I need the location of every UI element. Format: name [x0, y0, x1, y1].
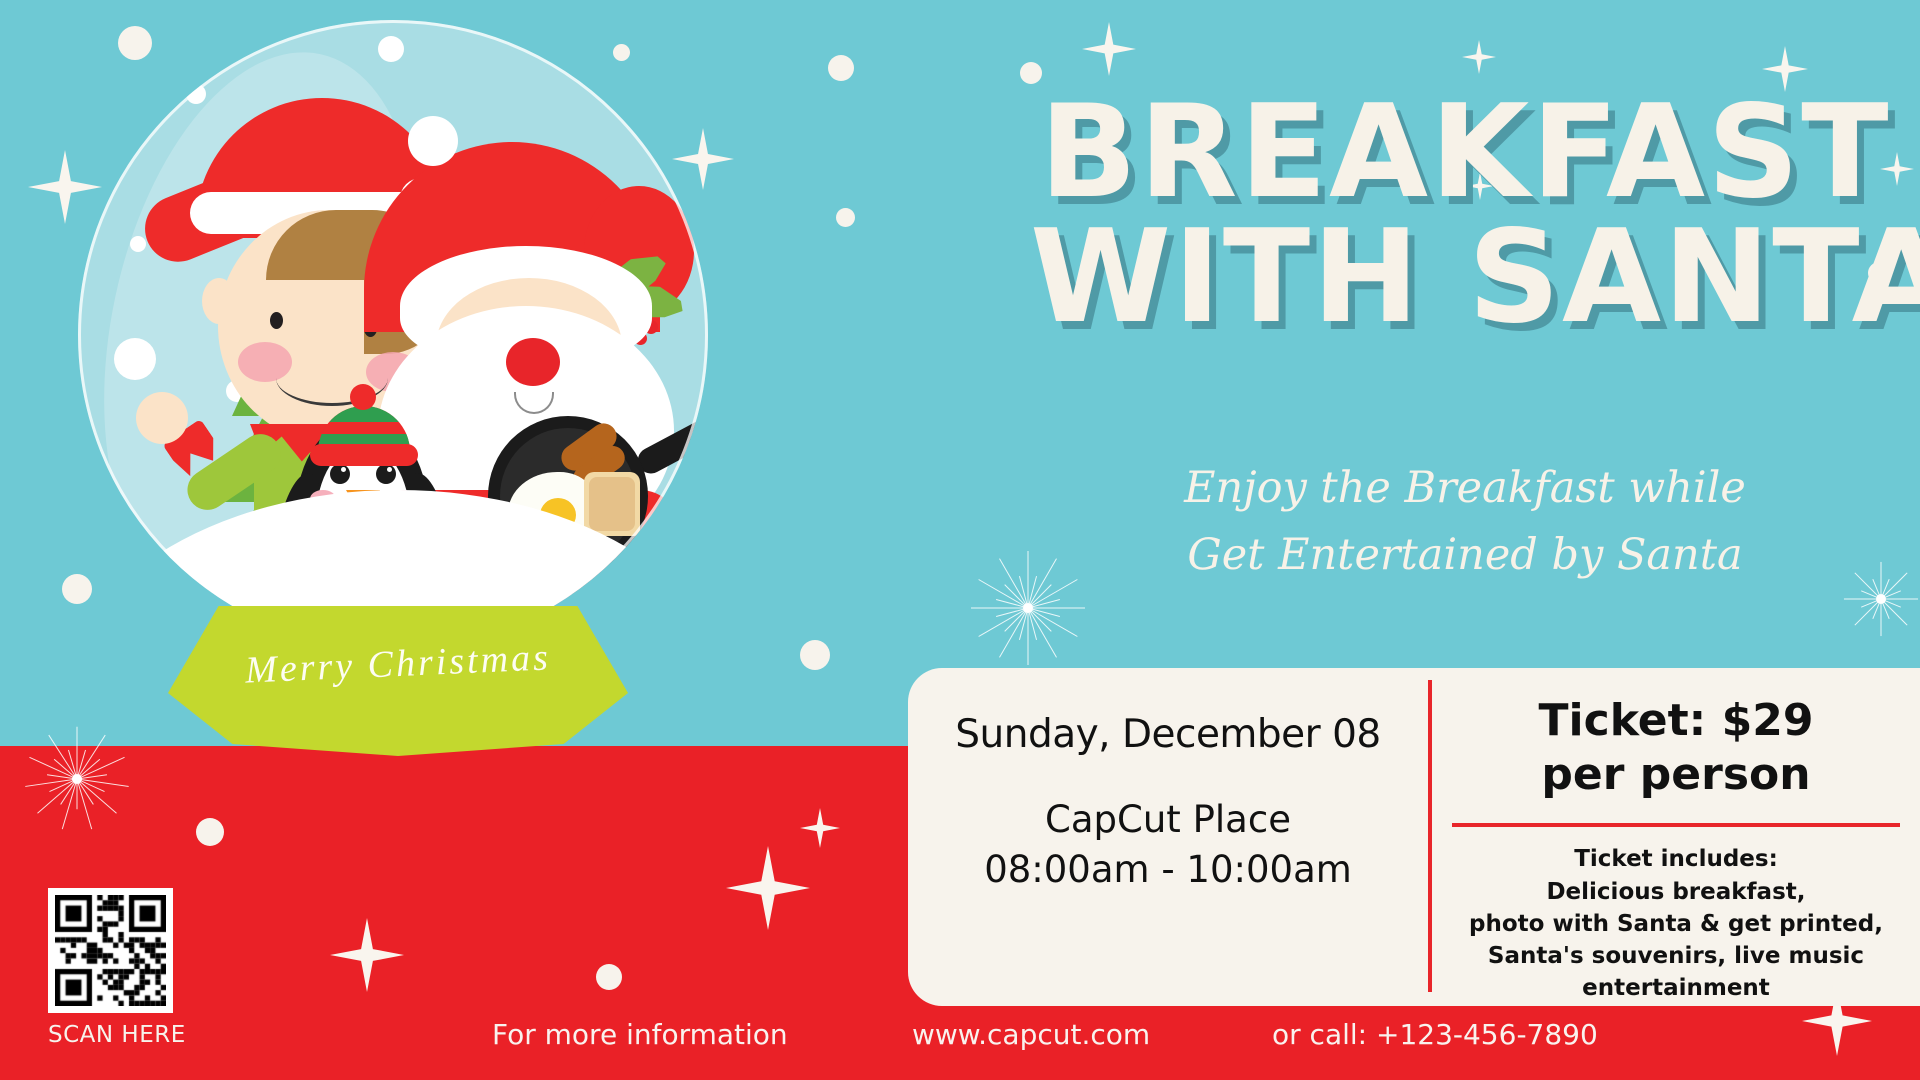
- includes-line-2: photo with Santa & get printed,: [1469, 908, 1883, 940]
- snow-dot: [196, 818, 224, 846]
- event-venue: CapCut Place 08:00am - 10:00am: [984, 795, 1352, 895]
- snow-dot: [828, 55, 854, 81]
- elf-eye-left: [270, 312, 283, 329]
- penguin-eye-left: [330, 464, 350, 484]
- penguin-beanie-brim: [310, 444, 418, 466]
- phone-number[interactable]: or call: +123-456-7890: [1272, 1018, 1598, 1051]
- title-line-2: WITH SANTA: [1030, 215, 1900, 340]
- event-date: Sunday, December 08: [955, 712, 1380, 757]
- penguin-eye-right: [376, 464, 396, 484]
- qr-code[interactable]: [48, 888, 173, 1013]
- includes-line-4: entertainment: [1469, 972, 1883, 1004]
- subtitle-line-1: Enjoy the Breakfast while: [1030, 455, 1900, 522]
- venue-name: CapCut Place: [984, 795, 1352, 845]
- globe-snow-dot: [130, 236, 146, 252]
- globe-base-text: Merry Christmas: [167, 632, 628, 696]
- globe-snow-dot: [186, 84, 206, 104]
- scan-here-label: SCAN HERE: [48, 1022, 186, 1048]
- event-time: 08:00am - 10:00am: [984, 845, 1352, 895]
- page-title: BREAKFAST WITH SANTA: [1030, 90, 1900, 341]
- snow-globe-illustration: Merry Christmas: [68, 10, 728, 710]
- globe-snow-dot: [378, 36, 404, 62]
- ticket-price-line-2: per person: [1539, 748, 1814, 802]
- subtitle-line-2: Get Entertained by Santa: [1030, 522, 1900, 589]
- snow-dot: [836, 208, 855, 227]
- penguin-beanie-pompom: [350, 384, 376, 410]
- globe-ball: [78, 20, 708, 650]
- poster-canvas: ❄ ❄ ❄: [0, 0, 1920, 1080]
- toast-icon: [584, 472, 640, 536]
- info-cards-panel: Sunday, December 08 CapCut Place 08:00am…: [908, 668, 1920, 1006]
- includes-line-3: Santa's souvenirs, live music: [1469, 940, 1883, 972]
- santa-hat-pompom: [408, 116, 458, 166]
- santa-nose: [506, 338, 560, 386]
- includes-title: Ticket includes:: [1469, 843, 1883, 875]
- title-line-1: BREAKFAST: [1030, 90, 1900, 215]
- more-info-label: For more information: [492, 1018, 788, 1051]
- ticket-card: Ticket: $29 per person Ticket includes: …: [1432, 668, 1920, 1006]
- globe-snow-dot: [114, 338, 156, 380]
- card-horizontal-divider: [1452, 823, 1900, 827]
- elf-hand: [136, 392, 188, 444]
- website-link[interactable]: www.capcut.com: [912, 1018, 1150, 1051]
- subtitle: Enjoy the Breakfast while Get Entertaine…: [1030, 455, 1900, 588]
- burst-sparkle-icon: [22, 724, 132, 834]
- ticket-price-line-1: Ticket: $29: [1539, 694, 1814, 748]
- snow-dot: [596, 964, 622, 990]
- globe-base: Merry Christmas: [168, 606, 628, 756]
- ticket-price: Ticket: $29 per person: [1539, 694, 1814, 801]
- ticket-includes-list: Ticket includes: Delicious breakfast, ph…: [1469, 843, 1883, 1004]
- snow-dot: [800, 640, 830, 670]
- event-details-card: Sunday, December 08 CapCut Place 08:00am…: [908, 668, 1428, 1006]
- includes-line-1: Delicious breakfast,: [1469, 876, 1883, 908]
